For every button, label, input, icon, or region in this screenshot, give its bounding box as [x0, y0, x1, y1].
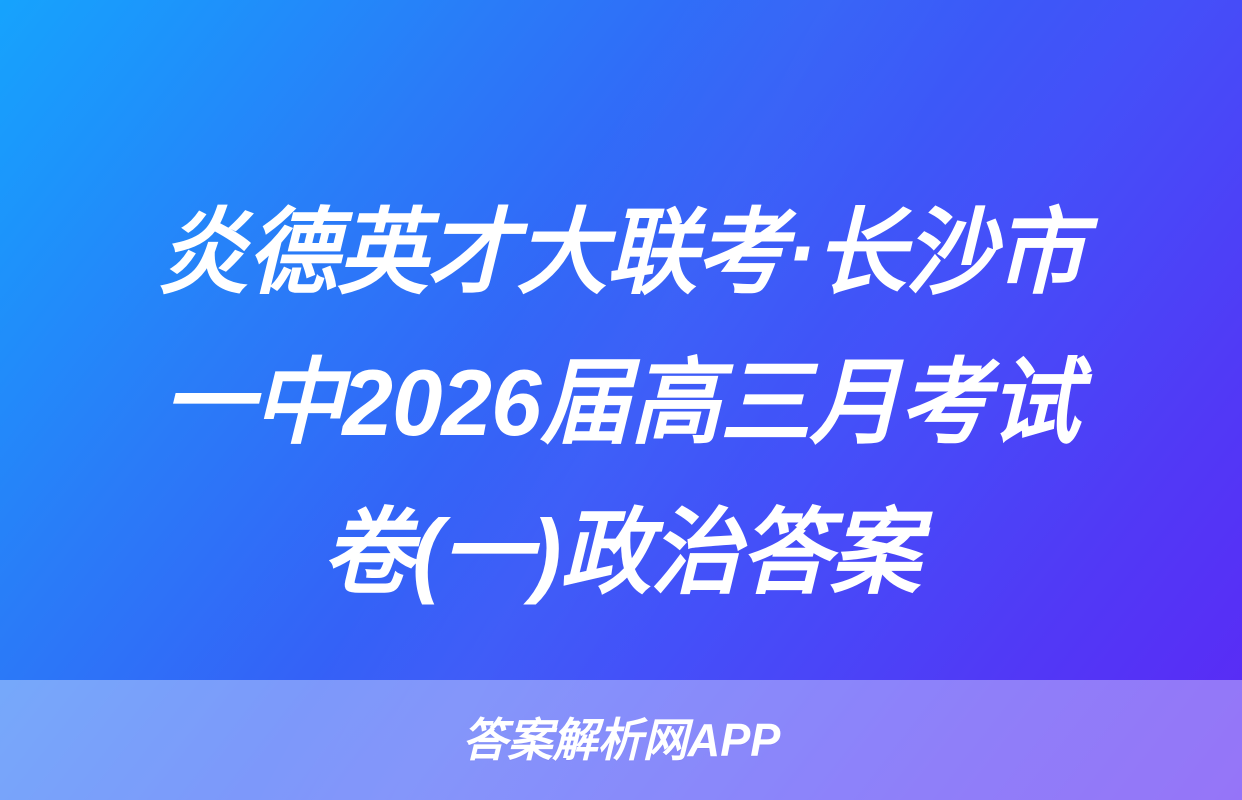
page-title-line-3: 卷(一)政治答案	[39, 478, 1203, 628]
page-title-line-1: 炎德英才大联考·长沙市	[39, 178, 1203, 328]
page-title-line-2: 一中2026届高三月考试	[39, 328, 1203, 478]
app-brand-label: 答案解析网APP	[462, 717, 780, 763]
app-promo-banner[interactable]: 答案解析网APP	[0, 680, 1242, 800]
page-title: 炎德英才大联考·长沙市 一中2026届高三月考试 卷(一)政治答案	[0, 178, 1242, 628]
exam-answer-poster: 炎德英才大联考·长沙市 一中2026届高三月考试 卷(一)政治答案 答案解析网A…	[0, 0, 1242, 800]
